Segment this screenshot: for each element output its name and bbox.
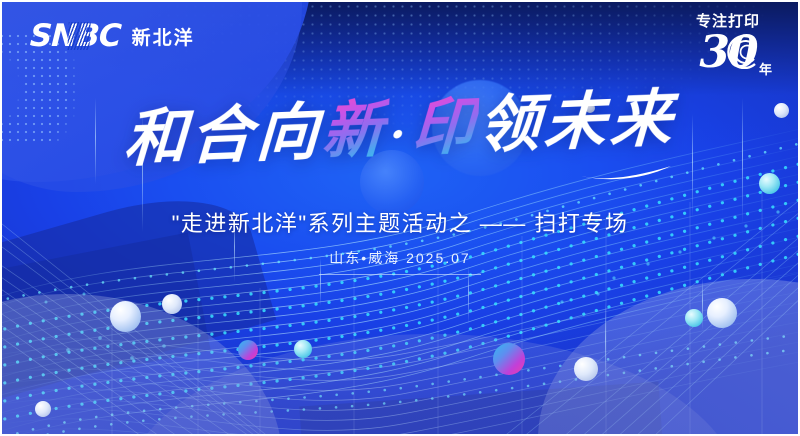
sphere-mid-right (759, 173, 780, 194)
main-title-text: 和合向新·印领未来 (123, 87, 678, 170)
dateline: 山东•威海 2025.07 (2, 248, 798, 275)
brand-logo[interactable]: SNBC 新北洋 (30, 21, 195, 52)
light-streak-5 (702, 278, 703, 330)
sphere-pink-mid (238, 340, 258, 360)
sphere-low-left (35, 401, 51, 417)
snbc-wordmark-icon: SNBC (29, 21, 121, 52)
title-segment-1: 新 (320, 92, 390, 168)
sphere-cyan-right (685, 309, 703, 327)
title-segment-2: · (386, 106, 413, 161)
anniversary-number-row: 30 年 (680, 31, 776, 75)
logo-mark-text: SNBC (29, 18, 122, 54)
sphere-cyan-mid (294, 340, 312, 358)
sphere-white-upper (162, 294, 182, 314)
logo-chinese-name: 新北洋 (132, 23, 195, 50)
sphere-white-left (110, 301, 141, 332)
title-segment-0: 和合向 (122, 95, 323, 176)
title-segment-3: 印 (410, 89, 480, 165)
subtitle: "走进新北洋"系列主题活动之 —— 扫打专场 (2, 206, 798, 238)
concentric-arcs-icon (725, 35, 759, 69)
light-streak-9 (605, 302, 606, 384)
dateline-text: 山东•威海 2025.07 (319, 248, 480, 275)
title-segment-4: 领未来 (476, 81, 677, 162)
title-brush-swash-icon (580, 165, 672, 181)
sphere-pink-large (493, 343, 525, 375)
main-title: 和合向新·印领未来 (2, 98, 798, 160)
sphere-white-right (707, 298, 737, 328)
event-banner: SNBC 新北洋 专注打印 30 年 和合向新·印领未来 "走进新北洋"系列主题… (0, 0, 800, 436)
anniversary-badge: 专注打印 30 年 (680, 14, 776, 75)
sphere-pale-center (574, 357, 598, 381)
anniversary-year-unit: 年 (759, 63, 772, 76)
